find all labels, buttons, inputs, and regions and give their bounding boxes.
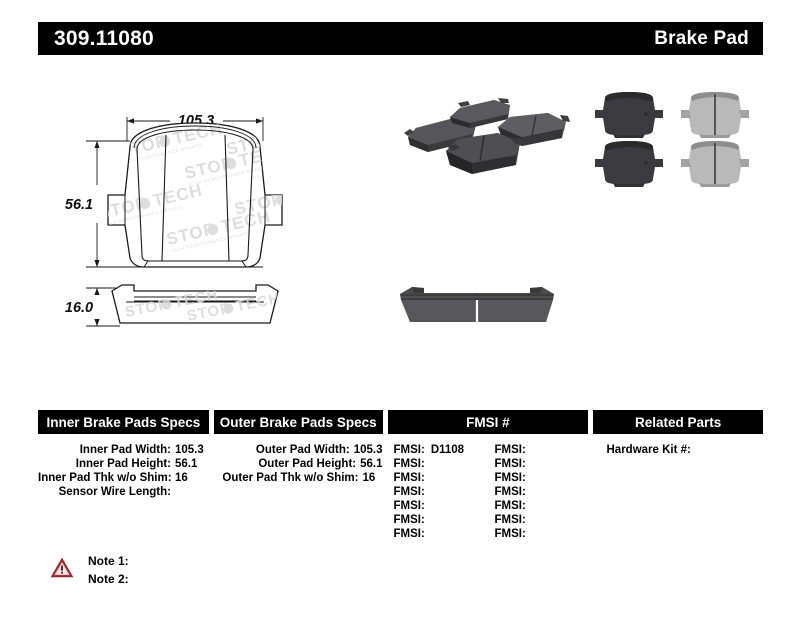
- pad-photo-rear-top: [450, 98, 510, 128]
- spec-row-sensor-wire-length: Sensor Wire Length:: [38, 485, 208, 499]
- photo-pad-edge-view: [396, 280, 558, 330]
- title-bar: 309.11080 Brake Pad: [38, 22, 763, 55]
- spec-label: Hardware Kit #:: [607, 443, 691, 457]
- product-type: Brake Pad: [654, 29, 749, 48]
- inner-specs-column: Inner Pad Width: 105.3 Inner Pad Height:…: [38, 443, 208, 541]
- fmsi-label: FMSI:: [495, 485, 526, 499]
- fmsi-row: FMSI:: [388, 471, 489, 485]
- svg-text:TECH: TECH: [287, 176, 340, 206]
- fmsi-value: D1108: [425, 443, 464, 457]
- spec-header-inner-brake-pads: Inner Brake Pads Specs: [38, 410, 209, 434]
- fmsi-label: FMSI:: [394, 527, 425, 541]
- note-line-2: Note 2:: [88, 570, 129, 588]
- fmsi-row: FMSI:: [489, 457, 590, 471]
- pad-side-view-outline: STOP TECH STOP TECH: [112, 285, 282, 325]
- fmsi-subcolumn-left: FMSI: D1108 FMSI: FMSI: FMSI: FMSI:: [388, 443, 489, 541]
- fmsi-label: FMSI:: [394, 513, 425, 527]
- spec-value: [171, 485, 175, 499]
- warning-triangle-icon: [50, 556, 74, 580]
- fmsi-value: [526, 513, 532, 527]
- pad-face-dark-bottom: [595, 141, 663, 187]
- spec-table-body-row: Inner Pad Width: 105.3 Inner Pad Height:…: [38, 434, 763, 541]
- fmsi-value: [526, 471, 532, 485]
- pad-edge-silhouette: [400, 287, 554, 322]
- fmsi-row: FMSI: D1108: [388, 443, 489, 457]
- spec-row-inner-pad-thickness: Inner Pad Thk w/o Shim: 16: [38, 471, 208, 485]
- fmsi-row: FMSI:: [388, 457, 489, 471]
- fmsi-value: [526, 443, 532, 457]
- fmsi-value: [425, 485, 431, 499]
- photo-angled-pad-group: [398, 95, 573, 180]
- fmsi-label: FMSI:: [394, 443, 425, 457]
- pad-face-dark-top: [595, 92, 663, 138]
- spec-table: Inner Brake Pads Specs Outer Brake Pads …: [38, 410, 763, 541]
- fmsi-value: [526, 527, 532, 541]
- spec-label: Sensor Wire Length:: [38, 485, 171, 499]
- fmsi-row: FMSI:: [388, 527, 489, 541]
- pad-face-light-top: [681, 92, 749, 138]
- fmsi-value: [425, 499, 431, 513]
- notes-lines: Note 1: Note 2:: [88, 552, 129, 588]
- fmsi-row: FMSI:: [489, 443, 590, 457]
- fmsi-label: FMSI:: [394, 471, 425, 485]
- spec-row-inner-pad-height: Inner Pad Height: 56.1: [38, 457, 208, 471]
- fmsi-row: FMSI:: [388, 485, 489, 499]
- spec-label: Outer Pad Thk w/o Shim:: [213, 471, 359, 485]
- fmsi-value: [526, 457, 532, 471]
- dimension-height-label: 56.1: [65, 197, 93, 213]
- spec-header-fmsi: FMSI #: [388, 410, 589, 434]
- fmsi-subcolumn-right: FMSI: FMSI: FMSI: FMSI: FMSI:: [489, 443, 590, 541]
- pad-front-view-outline: STOP TECH HIGH PERFORMANCE BRAKES STOP T…: [97, 116, 341, 267]
- spec-value: 105.3: [350, 443, 383, 457]
- fmsi-row: FMSI:: [489, 527, 590, 541]
- fmsi-value: [425, 471, 431, 485]
- note-line-1: Note 1:: [88, 552, 129, 570]
- spec-value: 16: [359, 471, 376, 485]
- spec-value: 16: [171, 471, 188, 485]
- fmsi-label: FMSI:: [495, 457, 526, 471]
- spec-label: Inner Pad Width:: [38, 443, 171, 457]
- spec-label: Outer Pad Height:: [213, 457, 357, 471]
- spec-value: 56.1: [171, 457, 197, 471]
- fmsi-value: [526, 499, 532, 513]
- svg-text:TECH: TECH: [279, 116, 332, 146]
- spec-value: [691, 443, 695, 457]
- fmsi-label: FMSI:: [394, 499, 425, 513]
- part-number: 309.11080: [54, 28, 154, 49]
- fmsi-row: FMSI:: [489, 485, 590, 499]
- fmsi-label: FMSI:: [495, 443, 526, 457]
- fmsi-row: FMSI:: [489, 499, 590, 513]
- fmsi-value: [425, 457, 431, 471]
- spec-value: 105.3: [171, 443, 204, 457]
- spec-row-outer-pad-width: Outer Pad Width: 105.3: [213, 443, 383, 457]
- fmsi-row: FMSI:: [388, 513, 489, 527]
- spec-header-related-parts: Related Parts: [593, 410, 763, 434]
- spec-row-outer-pad-thickness: Outer Pad Thk w/o Shim: 16: [213, 471, 383, 485]
- fmsi-label: FMSI:: [495, 513, 526, 527]
- fmsi-label: FMSI:: [394, 457, 425, 471]
- spec-header-outer-brake-pads: Outer Brake Pads Specs: [214, 410, 383, 434]
- photo-pad-faces-grid: [583, 90, 763, 190]
- fmsi-label: FMSI:: [495, 527, 526, 541]
- fmsi-row: FMSI:: [388, 499, 489, 513]
- spec-value: 56.1: [356, 457, 382, 471]
- spec-row-inner-pad-width: Inner Pad Width: 105.3: [38, 443, 208, 457]
- spec-table-header-row: Inner Brake Pads Specs Outer Brake Pads …: [38, 410, 763, 434]
- spec-label: Inner Pad Thk w/o Shim:: [38, 471, 171, 485]
- fmsi-label: FMSI:: [495, 499, 526, 513]
- pad-face-light-bottom: [681, 141, 749, 187]
- related-parts-column: Hardware Kit #:: [595, 443, 764, 541]
- spec-row-outer-pad-height: Outer Pad Height: 56.1: [213, 457, 383, 471]
- fmsi-row: FMSI:: [489, 471, 590, 485]
- fmsi-row: FMSI:: [489, 513, 590, 527]
- notes-block: Note 1: Note 2:: [50, 552, 129, 588]
- dimension-thickness-label: 16.0: [65, 300, 93, 316]
- fmsi-label: FMSI:: [394, 485, 425, 499]
- fmsi-value: [526, 485, 532, 499]
- fmsi-value: [425, 513, 431, 527]
- fmsi-label: FMSI:: [495, 471, 526, 485]
- fmsi-column: FMSI: D1108 FMSI: FMSI: FMSI: FMSI:: [388, 443, 590, 541]
- spec-row-hardware-kit: Hardware Kit #:: [595, 443, 764, 457]
- outer-specs-column: Outer Pad Width: 105.3 Outer Pad Height:…: [213, 443, 383, 541]
- spec-label: Inner Pad Height:: [38, 457, 171, 471]
- fmsi-value: [425, 527, 431, 541]
- spec-label: Outer Pad Width:: [213, 443, 350, 457]
- technical-drawing: 105.3 56.1 16.0 STOP: [60, 95, 390, 345]
